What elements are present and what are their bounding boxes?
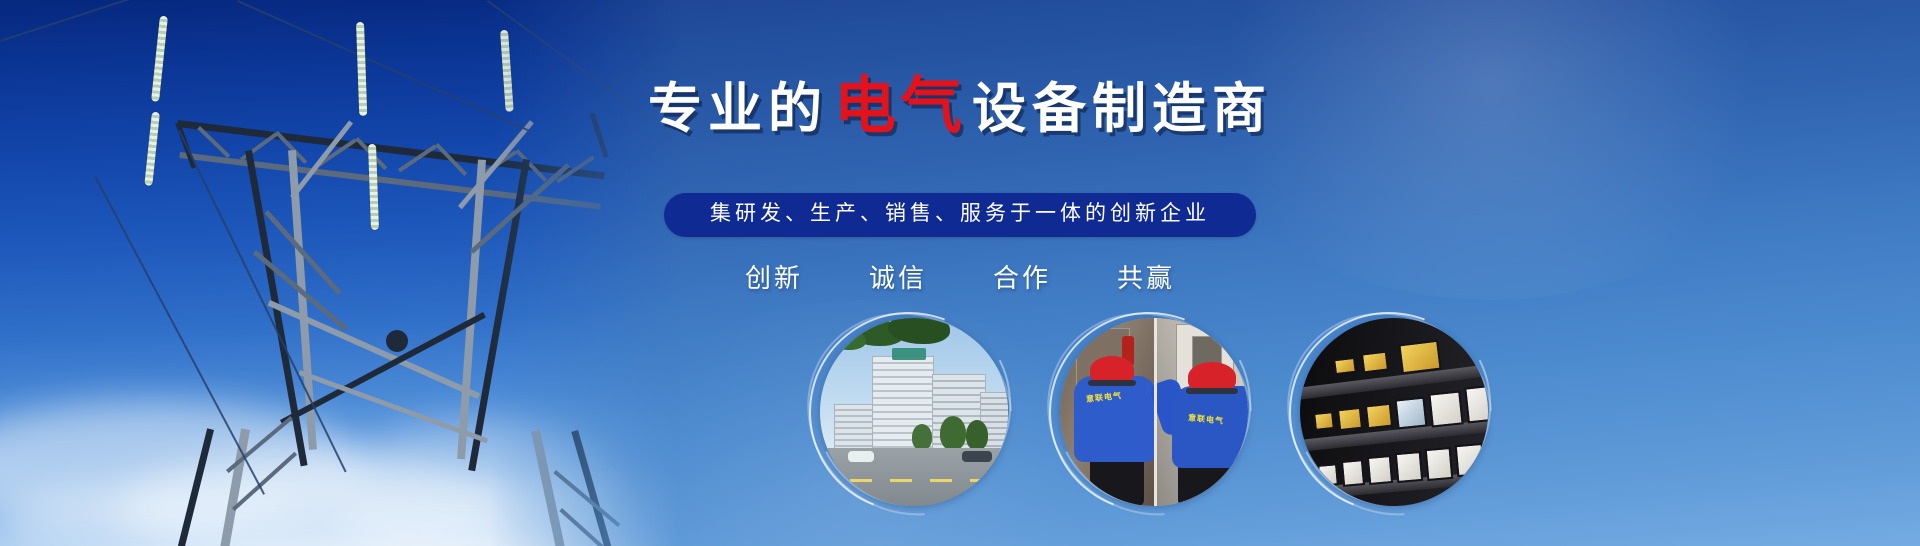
photo-disc bbox=[1300, 318, 1488, 506]
building-signage bbox=[892, 348, 926, 360]
keyword-item-4: 共赢 bbox=[1117, 258, 1175, 295]
photo-disc bbox=[820, 318, 1008, 506]
keyword-item-3: 合作 bbox=[993, 258, 1051, 295]
subtitle-pill: 集研发、生产、销售、服务于一体的创新企业 bbox=[664, 193, 1256, 237]
subtitle-pill-wrapper: 集研发、生产、销售、服务于一体的创新企业 bbox=[0, 193, 1920, 237]
headline-segment-1: 专业的 bbox=[648, 79, 828, 139]
circle-photo-certificate-wall bbox=[1300, 318, 1488, 506]
promo-banner: 专业的电气设备制造商 集研发、生产、销售、服务于一体的创新企业 创新 诚信 合作… bbox=[0, 0, 1920, 546]
keyword-item-2: 诚信 bbox=[869, 258, 927, 295]
glow-accent bbox=[1180, 0, 1800, 300]
keyword-list: 创新 诚信 合作 共赢 bbox=[0, 258, 1920, 295]
headline-segment-highlight: 电气 bbox=[828, 72, 972, 141]
headline: 专业的电气设备制造商 bbox=[0, 76, 1920, 138]
keyword-item-1: 创新 bbox=[745, 258, 803, 295]
circle-photo-technicians: 意联电气 意联电气 bbox=[1060, 318, 1248, 506]
circle-photo-office-building bbox=[820, 318, 1008, 506]
photo-disc: 意联电气 意联电气 bbox=[1060, 318, 1248, 506]
headline-segment-3: 设备制造商 bbox=[972, 79, 1272, 139]
circular-photo-row: 意联电气 意联电气 bbox=[820, 318, 1488, 506]
